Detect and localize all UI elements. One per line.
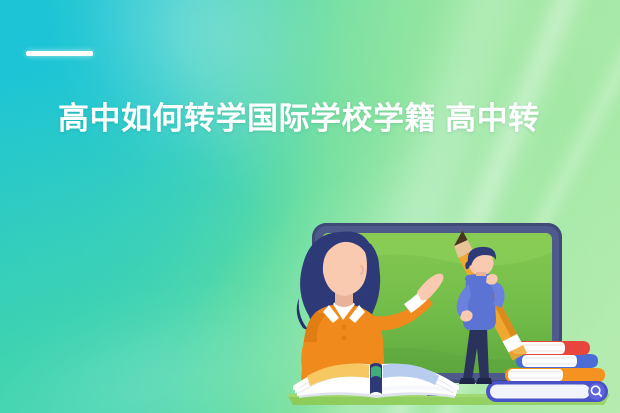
page-title: 高中如何转学国际学校学籍 高中转 xyxy=(58,100,620,139)
book-orange xyxy=(505,368,605,382)
promo-banner: 高中如何转学国际学校学籍 高中转 xyxy=(0,0,620,413)
accent-rule xyxy=(26,51,93,56)
education-study-illustration xyxy=(277,208,620,413)
book-blue xyxy=(516,354,598,368)
search-bar[interactable] xyxy=(486,381,608,402)
search-icon xyxy=(588,383,605,400)
